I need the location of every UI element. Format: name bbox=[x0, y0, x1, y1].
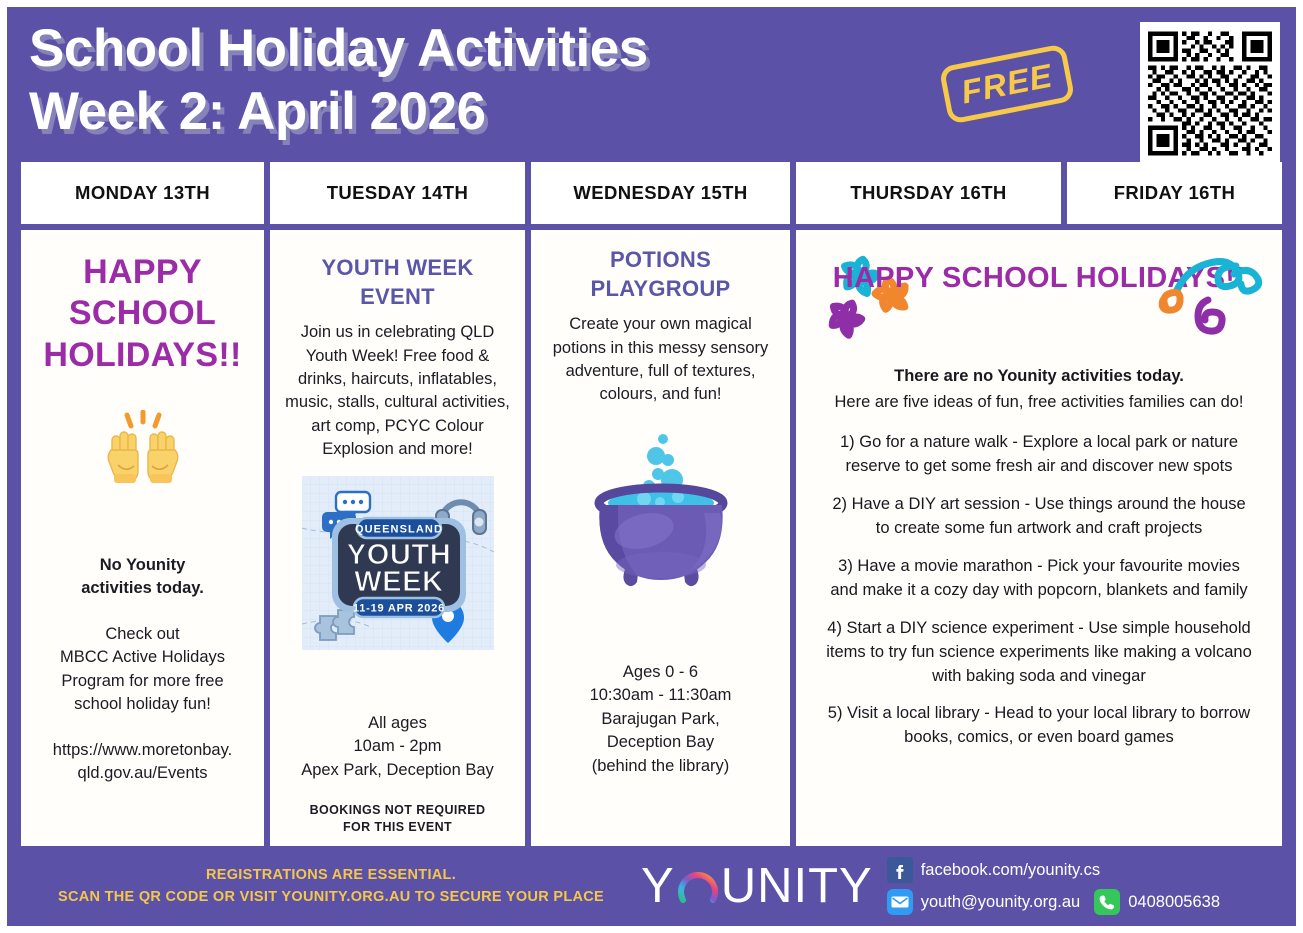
svg-text:WEEK: WEEK bbox=[354, 566, 443, 598]
poster-root: School Holiday Activities Week 2: April … bbox=[7, 7, 1296, 926]
registrations-note: REGISTRATIONS ARE ESSENTIAL. SCAN THE QR… bbox=[21, 864, 641, 909]
tuesday-ages: All ages bbox=[368, 712, 427, 735]
contact-email-phone[interactable]: youth@younity.org.au 0408005638 bbox=[887, 889, 1220, 915]
facebook-handle: facebook.com/younity.cs bbox=[921, 861, 1100, 880]
facebook-icon bbox=[887, 857, 913, 883]
qr-code-icon bbox=[1148, 30, 1272, 157]
tuesday-time: 10am - 2pm bbox=[353, 735, 441, 758]
day-header-monday: MONDAY 13TH bbox=[21, 162, 264, 224]
logo-text-post: UNITY bbox=[721, 862, 873, 911]
monday-url[interactable]: https://www.moretonbay. qld.gov.au/Event… bbox=[53, 739, 232, 786]
list-item: 5) Visit a local library - Head to your … bbox=[808, 702, 1270, 750]
monday-note: No Younity activities today. bbox=[81, 554, 204, 601]
tuesday-heading: YOUTH WEEK EVENT bbox=[282, 254, 513, 311]
bubbling-cauldron-icon bbox=[586, 423, 736, 593]
title-line-2: Week 2: April 2026 bbox=[29, 81, 648, 144]
monday-heading: HAPPY SCHOOL HOLIDAYS!! bbox=[33, 252, 252, 376]
phone-number: 0408005638 bbox=[1128, 893, 1220, 912]
day-columns: HAPPY SCHOOL HOLIDAYS!! bbox=[7, 224, 1296, 846]
email-address: youth@younity.org.au bbox=[921, 893, 1081, 912]
free-badge: FREE bbox=[939, 43, 1076, 124]
list-item: 3) Have a movie marathon - Pick your fav… bbox=[808, 555, 1270, 603]
monday-body: Check out MBCC Active Holidays Program f… bbox=[60, 623, 225, 717]
thursday-friday-header: HAPPY SCHOOL HOLIDAYS!! bbox=[808, 246, 1270, 364]
queensland-youth-week-poster: QUEENSLAND YOUTH WEEK 11-19 APR 2026 bbox=[302, 476, 494, 650]
column-wednesday: POTIONS PLAYGROUP Create your own magica… bbox=[531, 230, 790, 846]
column-thursday-friday: HAPPY SCHOOL HOLIDAYS!! There are no You… bbox=[796, 230, 1282, 846]
contact-facebook[interactable]: facebook.com/younity.cs bbox=[887, 857, 1220, 883]
wednesday-heading: POTIONS PLAYGROUP bbox=[543, 246, 778, 303]
younity-logo: Y bbox=[641, 862, 873, 911]
column-tuesday: YOUTH WEEK EVENT Join us in celebrating … bbox=[270, 230, 525, 846]
column-monday: HAPPY SCHOOL HOLIDAYS!! bbox=[21, 230, 264, 846]
svg-text:QUEENSLAND: QUEENSLAND bbox=[354, 523, 442, 535]
day-header-friday: FRIDAY 16TH bbox=[1067, 162, 1282, 224]
day-header-row: MONDAY 13TH TUESDAY 14TH WEDNESDAY 15TH … bbox=[7, 162, 1296, 224]
poster-header: School Holiday Activities Week 2: April … bbox=[7, 7, 1296, 162]
raising-hands-icon bbox=[104, 410, 182, 493]
tuesday-body: Join us in celebrating QLD Youth Week! F… bbox=[282, 321, 513, 462]
logo-text-pre: Y bbox=[641, 862, 675, 911]
title-line-1: School Holiday Activities bbox=[29, 18, 648, 81]
registrations-line-1: REGISTRATIONS ARE ESSENTIAL. bbox=[21, 864, 641, 886]
rainbow-ring-icon bbox=[676, 864, 720, 908]
poster-footer: REGISTRATIONS ARE ESSENTIAL. SCAN THE QR… bbox=[7, 846, 1296, 926]
wednesday-details: Ages 0 - 6 10:30am - 11:30am Barajugan P… bbox=[590, 661, 732, 778]
svg-text:11-19 APR 2026: 11-19 APR 2026 bbox=[352, 602, 444, 614]
footer-contacts: facebook.com/younity.cs youth@younity.or… bbox=[887, 857, 1220, 915]
wednesday-body: Create your own magical potions in this … bbox=[543, 313, 778, 407]
day-header-tuesday: TUESDAY 14TH bbox=[270, 162, 525, 224]
swirl-doodles bbox=[1154, 246, 1264, 346]
footer-brand-contacts: Y bbox=[641, 857, 1282, 915]
free-badge-label: FREE bbox=[958, 57, 1056, 112]
page-title: School Holiday Activities Week 2: April … bbox=[29, 18, 648, 143]
list-item: 4) Start a DIY science experiment - Use … bbox=[808, 617, 1270, 689]
day-header-wednesday: WEDNESDAY 15TH bbox=[531, 162, 790, 224]
thursday-friday-intro-bold: There are no Younity activities today. bbox=[894, 364, 1184, 390]
tuesday-location: Apex Park, Deception Bay bbox=[301, 759, 494, 782]
activity-ideas-list: 1) Go for a nature walk - Explore a loca… bbox=[808, 431, 1270, 750]
qr-code[interactable] bbox=[1140, 22, 1280, 165]
registrations-line-2: SCAN THE QR CODE OR VISIT YOUNITY.ORG.AU… bbox=[21, 886, 641, 908]
phone-icon bbox=[1094, 889, 1120, 915]
list-item: 2) Have a DIY art session - Use things a… bbox=[808, 493, 1270, 541]
thursday-friday-intro: Here are five ideas of fun, free activit… bbox=[834, 390, 1243, 416]
list-item: 1) Go for a nature walk - Explore a loca… bbox=[808, 431, 1270, 479]
email-icon bbox=[887, 889, 913, 915]
day-header-thursday: THURSDAY 16TH bbox=[796, 162, 1061, 224]
tuesday-bookings: BOOKINGS NOT REQUIRED FOR THIS EVENT bbox=[310, 802, 486, 836]
